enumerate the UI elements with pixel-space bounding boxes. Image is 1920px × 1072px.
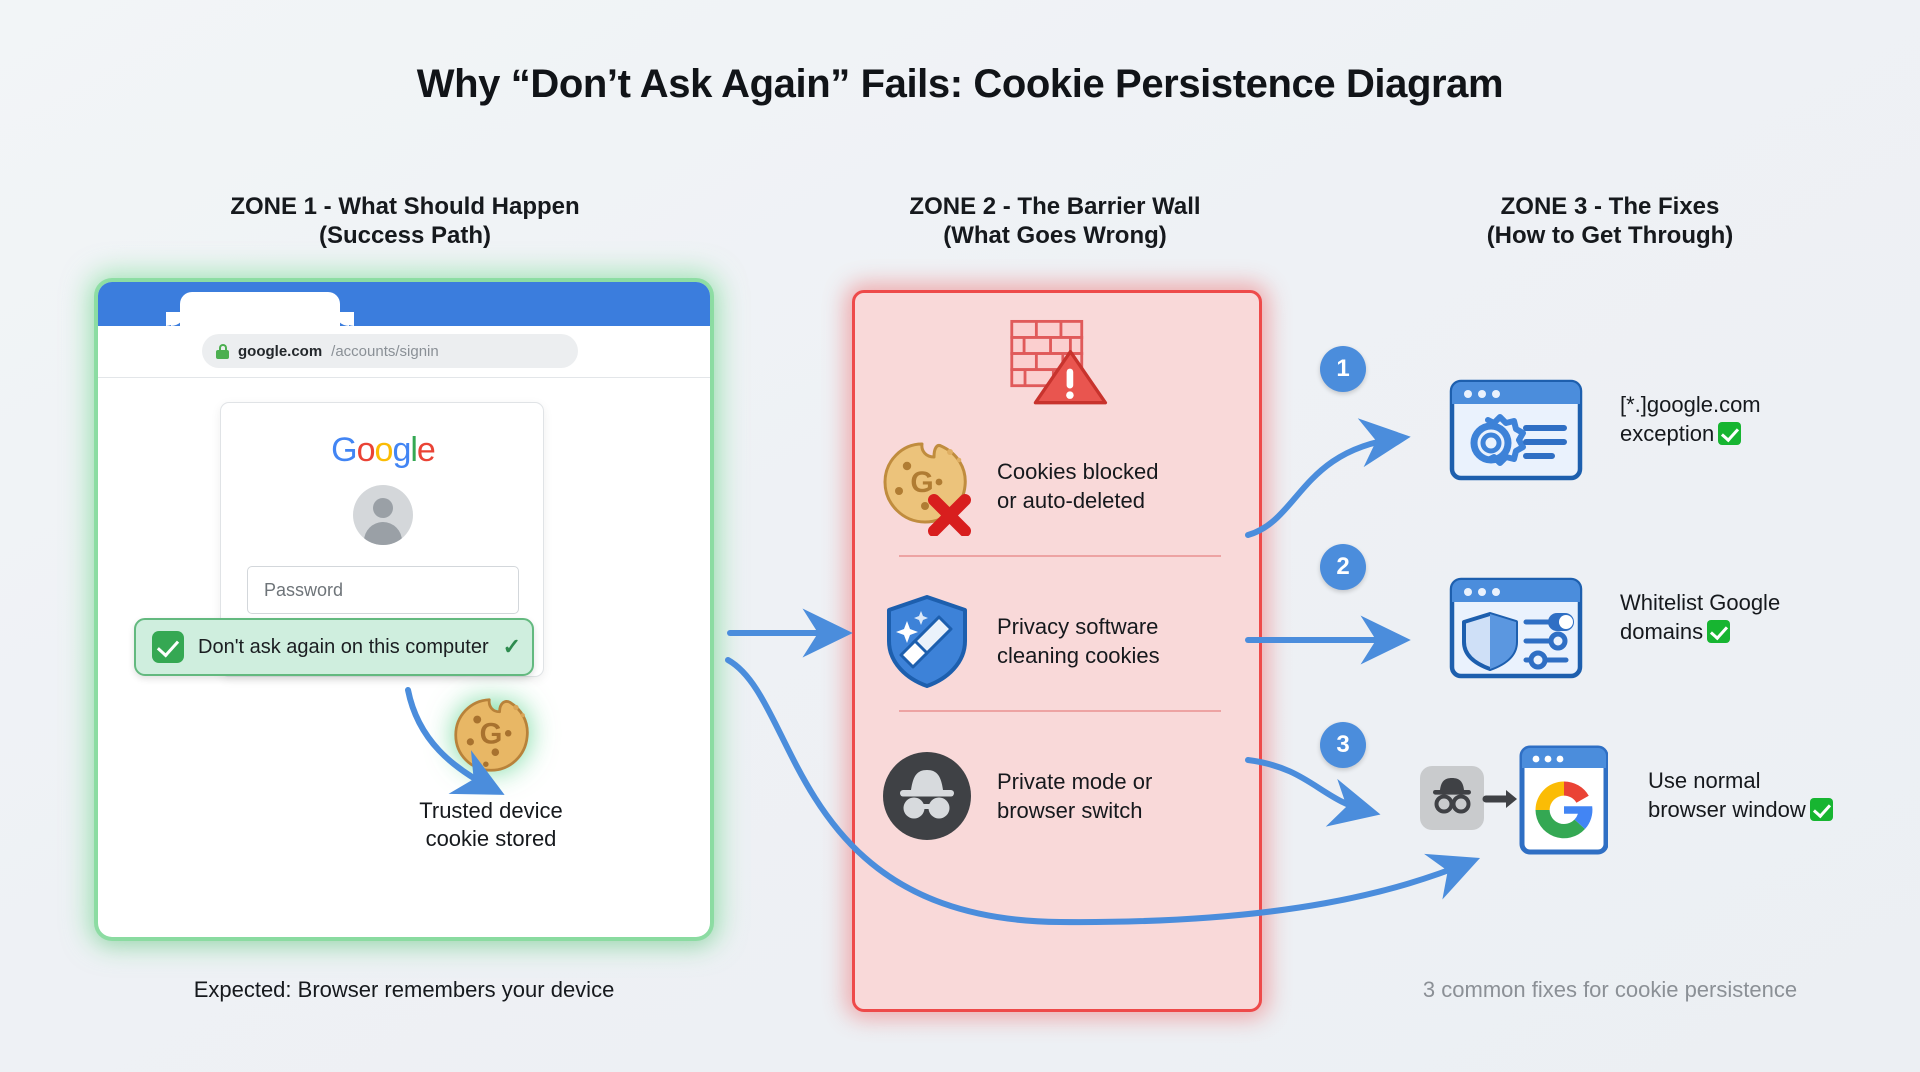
barrier-divider-1 xyxy=(899,555,1221,557)
lock-icon xyxy=(216,344,229,359)
barrier-item-3-text: Private mode or browser switch xyxy=(997,767,1152,825)
fix-1-line2: exception xyxy=(1620,421,1714,446)
barrier-item-3: Private mode or browser switch xyxy=(877,733,1243,859)
browser-urlbar-row: google.com /accounts/signin xyxy=(98,326,710,378)
zone2-heading-line2: (What Goes Wrong) xyxy=(845,221,1265,250)
user-avatar-icon xyxy=(353,485,413,545)
url-domain: google.com xyxy=(238,343,322,360)
fix-text-3: Use normal browser window xyxy=(1648,766,1920,825)
zone3-heading-line1: ZONE 3 - The Fixes xyxy=(1400,192,1820,221)
green-check-icon xyxy=(1718,422,1741,445)
google-logo: Google xyxy=(221,431,545,470)
checkbox-checked-icon[interactable] xyxy=(152,631,184,663)
trusted-device-caption: Trusted device cookie stored xyxy=(346,797,636,852)
checkbox-label: Don't ask again on this computer xyxy=(198,636,489,659)
zone2-heading-line1: ZONE 2 - The Barrier Wall xyxy=(845,192,1265,221)
fix-number-2: 2 xyxy=(1320,544,1366,590)
barrier-item-2-line2: cleaning cookies xyxy=(997,641,1160,670)
barrier-divider-2 xyxy=(899,710,1221,712)
zone2-barrier-wall: G Cookies blocked or auto-deleted xyxy=(852,290,1262,1012)
trusted-caption-line1: Trusted device xyxy=(346,797,636,825)
zone1-heading: ZONE 1 - What Should Happen (Success Pat… xyxy=(95,192,715,251)
dont-ask-again-checkbox-row[interactable]: Don't ask again on this computer ✓ xyxy=(134,618,534,676)
fix-3-line2: browser window xyxy=(1648,797,1806,822)
svg-text:G: G xyxy=(910,466,933,499)
url-input[interactable]: google.com /accounts/signin xyxy=(202,334,578,368)
barrier-item-1-line2: or auto-deleted xyxy=(997,486,1158,515)
zone3-footer: 3 common fixes for cookie persistence xyxy=(1300,977,1920,1003)
browser-topbar xyxy=(98,282,710,326)
zone2-heading: ZONE 2 - The Barrier Wall (What Goes Wro… xyxy=(845,192,1265,251)
barrier-item-1: G Cookies blocked or auto-deleted xyxy=(877,423,1243,549)
fix-number-3: 3 xyxy=(1320,722,1366,768)
incognito-icon xyxy=(877,746,977,846)
fix-text-2: Whitelist Google domains xyxy=(1620,588,1920,647)
fix-text-1: [*.]google.com exception xyxy=(1620,390,1920,449)
zone3-heading: ZONE 3 - The Fixes (How to Get Through) xyxy=(1400,192,1820,251)
cookie-blocked-icon: G xyxy=(877,436,977,536)
url-path: /accounts/signin xyxy=(331,343,439,360)
check-icon: ✓ xyxy=(503,634,521,660)
browser-shield-toggles-icon xyxy=(1448,576,1584,680)
green-check-icon xyxy=(1810,798,1833,821)
zone1-heading-line2: (Success Path) xyxy=(95,221,715,250)
fix-row-1: 1 [*.]google.com exception xyxy=(1300,372,1920,492)
shield-broom-icon xyxy=(877,591,977,691)
barrier-item-3-line2: browser switch xyxy=(997,796,1152,825)
fix-3-line1: Use normal xyxy=(1648,766,1920,795)
fix-2-line2: domains xyxy=(1620,619,1703,644)
browser-settings-gear-icon xyxy=(1448,378,1584,482)
green-check-icon xyxy=(1707,620,1730,643)
zone1-browser-mock: google.com /accounts/signin Google Passw… xyxy=(98,282,710,937)
fix-row-3: 3 Use normal browser window xyxy=(1300,748,1920,868)
browser-tab[interactable] xyxy=(180,292,340,326)
cookie-icon: G xyxy=(448,692,534,778)
fix-number-1: 1 xyxy=(1320,346,1366,392)
barrier-item-3-line1: Private mode or xyxy=(997,767,1152,796)
diagram-canvas: Why “Don’t Ask Again” Fails: Cookie Pers… xyxy=(0,0,1920,1072)
fix-2-line1: Whitelist Google xyxy=(1620,588,1920,617)
barrier-item-2-text: Privacy software cleaning cookies xyxy=(997,612,1160,670)
barrier-item-2-line1: Privacy software xyxy=(997,612,1160,641)
barrier-item-2: Privacy software cleaning cookies xyxy=(877,578,1243,704)
fix-row-2: 2 Whitelist Google domains xyxy=(1300,570,1920,690)
incognito-to-normal-browser-icon xyxy=(1418,742,1608,858)
trusted-caption-line2: cookie stored xyxy=(346,825,636,853)
trusted-cookie-group: G Trusted device cookie stored xyxy=(346,692,636,852)
barrier-item-1-line1: Cookies blocked xyxy=(997,457,1158,486)
svg-text:G: G xyxy=(480,719,503,751)
fix-1-line1: [*.]google.com xyxy=(1620,390,1920,419)
zone1-footer: Expected: Browser remembers your device xyxy=(98,977,710,1003)
password-field[interactable]: Password xyxy=(247,566,519,614)
page-title: Why “Don’t Ask Again” Fails: Cookie Pers… xyxy=(0,62,1920,107)
barrier-item-1-text: Cookies blocked or auto-deleted xyxy=(997,457,1158,515)
brick-wall-warning-icon xyxy=(1008,317,1112,409)
zone3-heading-line2: (How to Get Through) xyxy=(1400,221,1820,250)
zone1-heading-line1: ZONE 1 - What Should Happen xyxy=(95,192,715,221)
